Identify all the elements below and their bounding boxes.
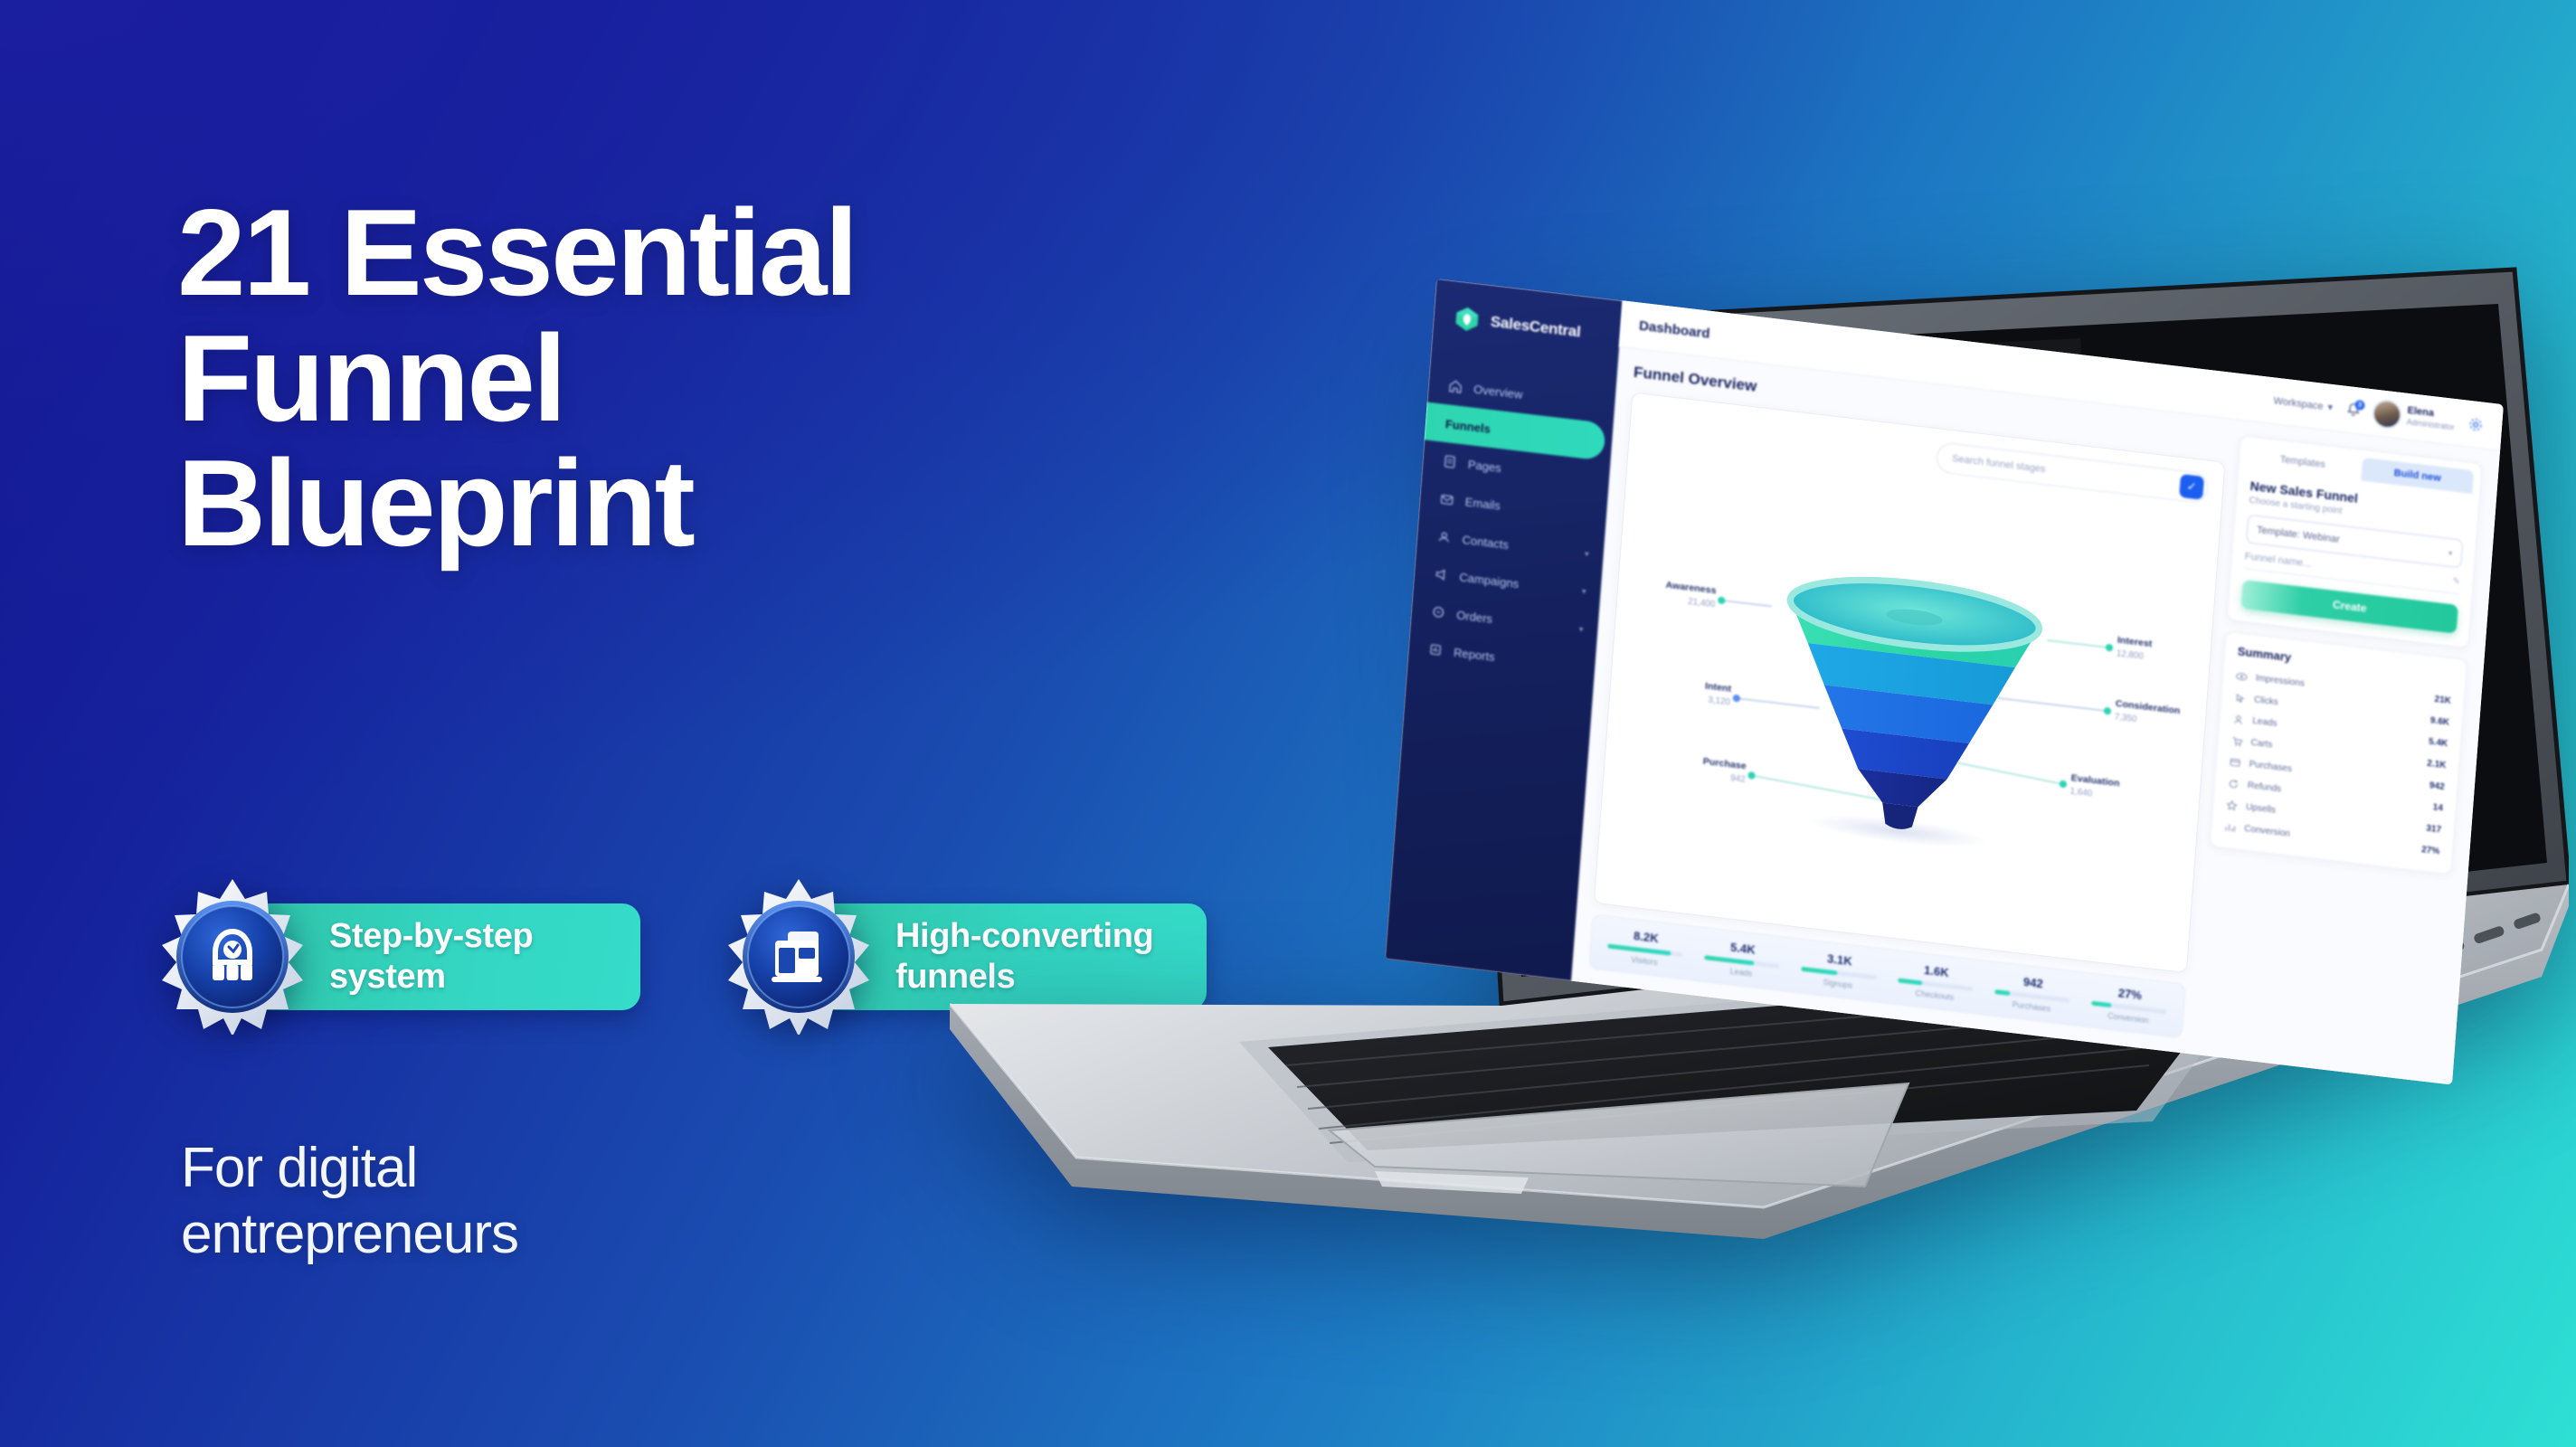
sidebar-item-label: Emails (1464, 495, 1592, 523)
badge-label: Step-by-step system (329, 916, 610, 998)
user-icon (2232, 713, 2245, 725)
page-title: 21 Essential Funnel Blueprint (177, 190, 856, 566)
brand: SalesCentral (1433, 302, 1621, 351)
workspace-select-label: Workspace (2273, 395, 2324, 411)
card-icon (2229, 756, 2241, 769)
cart-icon (1431, 604, 1446, 620)
summary-value: 9.6K (2430, 715, 2450, 727)
reports-icon (1428, 642, 1444, 658)
contacts-icon (1436, 529, 1452, 545)
svg-text:942: 942 (1730, 773, 1746, 785)
stat-item[interactable]: 27% Conversion (2079, 981, 2179, 1027)
browser-layout-icon (722, 879, 876, 1035)
svg-text:1,640: 1,640 (2069, 787, 2093, 799)
create-funnel-panel: Templates Build new New Sales Funnel Cho… (2226, 435, 2483, 649)
chevron-down-icon: ▾ (2448, 548, 2453, 556)
summary-value: 2.1K (2427, 758, 2447, 770)
rocket-icon (156, 879, 309, 1035)
user-menu[interactable]: Elena Administrator (2373, 400, 2456, 434)
sidebar-item-label: Pages (1467, 457, 1595, 485)
content-area: Dashboard Workspace ▾ 3 Elena A (1571, 300, 2504, 1084)
svg-text:21,400: 21,400 (1688, 597, 1716, 610)
funnel-name-placeholder: Funnel name... (2244, 551, 2311, 570)
laptop-screen: SalesCentral Overview Funnels Pages Emai… (1385, 279, 2504, 1085)
cart-icon (2230, 734, 2243, 747)
headline-line-2: Funnel (177, 316, 856, 441)
refresh-icon (2227, 777, 2240, 790)
feature-badge-step-by-step[interactable]: Step-by-step system (156, 879, 640, 1035)
panel-body: New Sales Funnel Choose a starting point… (2227, 467, 2479, 648)
notification-count: 3 (2354, 399, 2365, 410)
summary-value: 317 (2426, 823, 2442, 835)
side-column: Templates Build new New Sales Funnel Cho… (2194, 435, 2483, 1069)
bell-icon[interactable]: 3 (2344, 401, 2362, 419)
stat-item[interactable]: 3.1K Signups (1789, 948, 1889, 994)
template-select-value: Template: Webinar (2257, 525, 2340, 545)
dashboard-app: SalesCentral Overview Funnels Pages Emai… (1385, 279, 2504, 1085)
chevron-down-icon: ▾ (1585, 549, 1589, 559)
summary-value: 942 (2429, 780, 2446, 792)
funnel-card: Search funnel stages ✓ (1594, 392, 2226, 973)
workspace-select[interactable]: Workspace ▾ (2273, 394, 2333, 413)
summary-value: 21K (2434, 694, 2451, 705)
summary-card: Summary Impressions 21K Clicks (2209, 631, 2467, 875)
click-icon (2234, 691, 2247, 704)
pages-icon (1442, 454, 1457, 470)
svg-text:Awareness: Awareness (1665, 580, 1717, 596)
chevron-down-icon: ▾ (1582, 586, 1586, 596)
svg-text:12,800: 12,800 (2116, 648, 2144, 661)
edit-icon[interactable]: ✎ (2452, 576, 2460, 587)
chevron-down-icon: ▾ (2327, 401, 2334, 413)
main-column: Funnel Overview Search funnel stages ✓ (1588, 364, 2228, 1039)
headline-line-1: 21 Essential (177, 190, 856, 316)
summary-value: 5.4K (2429, 737, 2448, 749)
subtitle: For digital entrepreneurs (181, 1135, 518, 1267)
summary-value: 14 (2432, 802, 2443, 813)
home-icon (1448, 379, 1463, 395)
settings-icon[interactable] (2467, 415, 2484, 433)
sidebar-item-label: Reports (1454, 645, 1581, 673)
mail-icon (1439, 491, 1454, 507)
stat-item[interactable]: 8.2K Visitors (1596, 924, 1695, 970)
summary-value: 27% (2421, 845, 2440, 856)
headline-line-3: Blueprint (177, 440, 856, 566)
star-icon (2226, 799, 2239, 811)
avatar (2373, 400, 2401, 428)
chart-icon (2224, 820, 2237, 833)
sidebar-item-label: Campaigns (1459, 570, 1572, 596)
svg-text:Purchase: Purchase (1702, 756, 1747, 772)
topbar-title: Dashboard (1638, 317, 1710, 341)
chevron-down-icon: ▾ (1578, 624, 1583, 634)
stat-item[interactable]: 5.4K Leads (1692, 936, 1792, 982)
svg-text:Interest: Interest (2117, 635, 2153, 649)
dashboard-body: Funnel Overview Search funnel stages ✓ (1571, 347, 2500, 1085)
campaign-icon (1434, 566, 1449, 582)
user-info: Elena Administrator (2406, 405, 2456, 433)
eye-icon (2235, 669, 2248, 682)
subtitle-line-2: entrepreneurs (181, 1201, 518, 1267)
svg-text:7,350: 7,350 (2114, 712, 2137, 724)
summary-list: Impressions 21K Clicks 9.6K (2210, 663, 2464, 874)
svg-text:Intent: Intent (1705, 681, 1732, 695)
funnel-chart: Awareness 21,400 Intent 3,120 (1610, 438, 2207, 958)
sidebar-item-label: Overview (1473, 382, 1601, 410)
subtitle-line-1: For digital (181, 1135, 518, 1201)
poster-canvas: 21 Essential Funnel Blueprint Step-by-st… (0, 0, 2576, 1447)
sidebar-item-label: Contacts (1462, 533, 1575, 559)
stat-item[interactable]: 942 Purchases (1983, 970, 2082, 1017)
sidebar-item-label: Funnels (1445, 417, 1591, 448)
svg-text:Evaluation: Evaluation (2070, 772, 2120, 789)
cube-leaf-logo-icon (1453, 304, 1482, 334)
sidebar-item-label: Orders (1456, 608, 1569, 634)
svg-text:3,120: 3,120 (1708, 695, 1731, 708)
stat-item[interactable]: 1.6K Checkouts (1886, 959, 1985, 1005)
brand-name: SalesCentral (1490, 313, 1581, 342)
check-icon[interactable]: ✓ (2179, 474, 2204, 500)
